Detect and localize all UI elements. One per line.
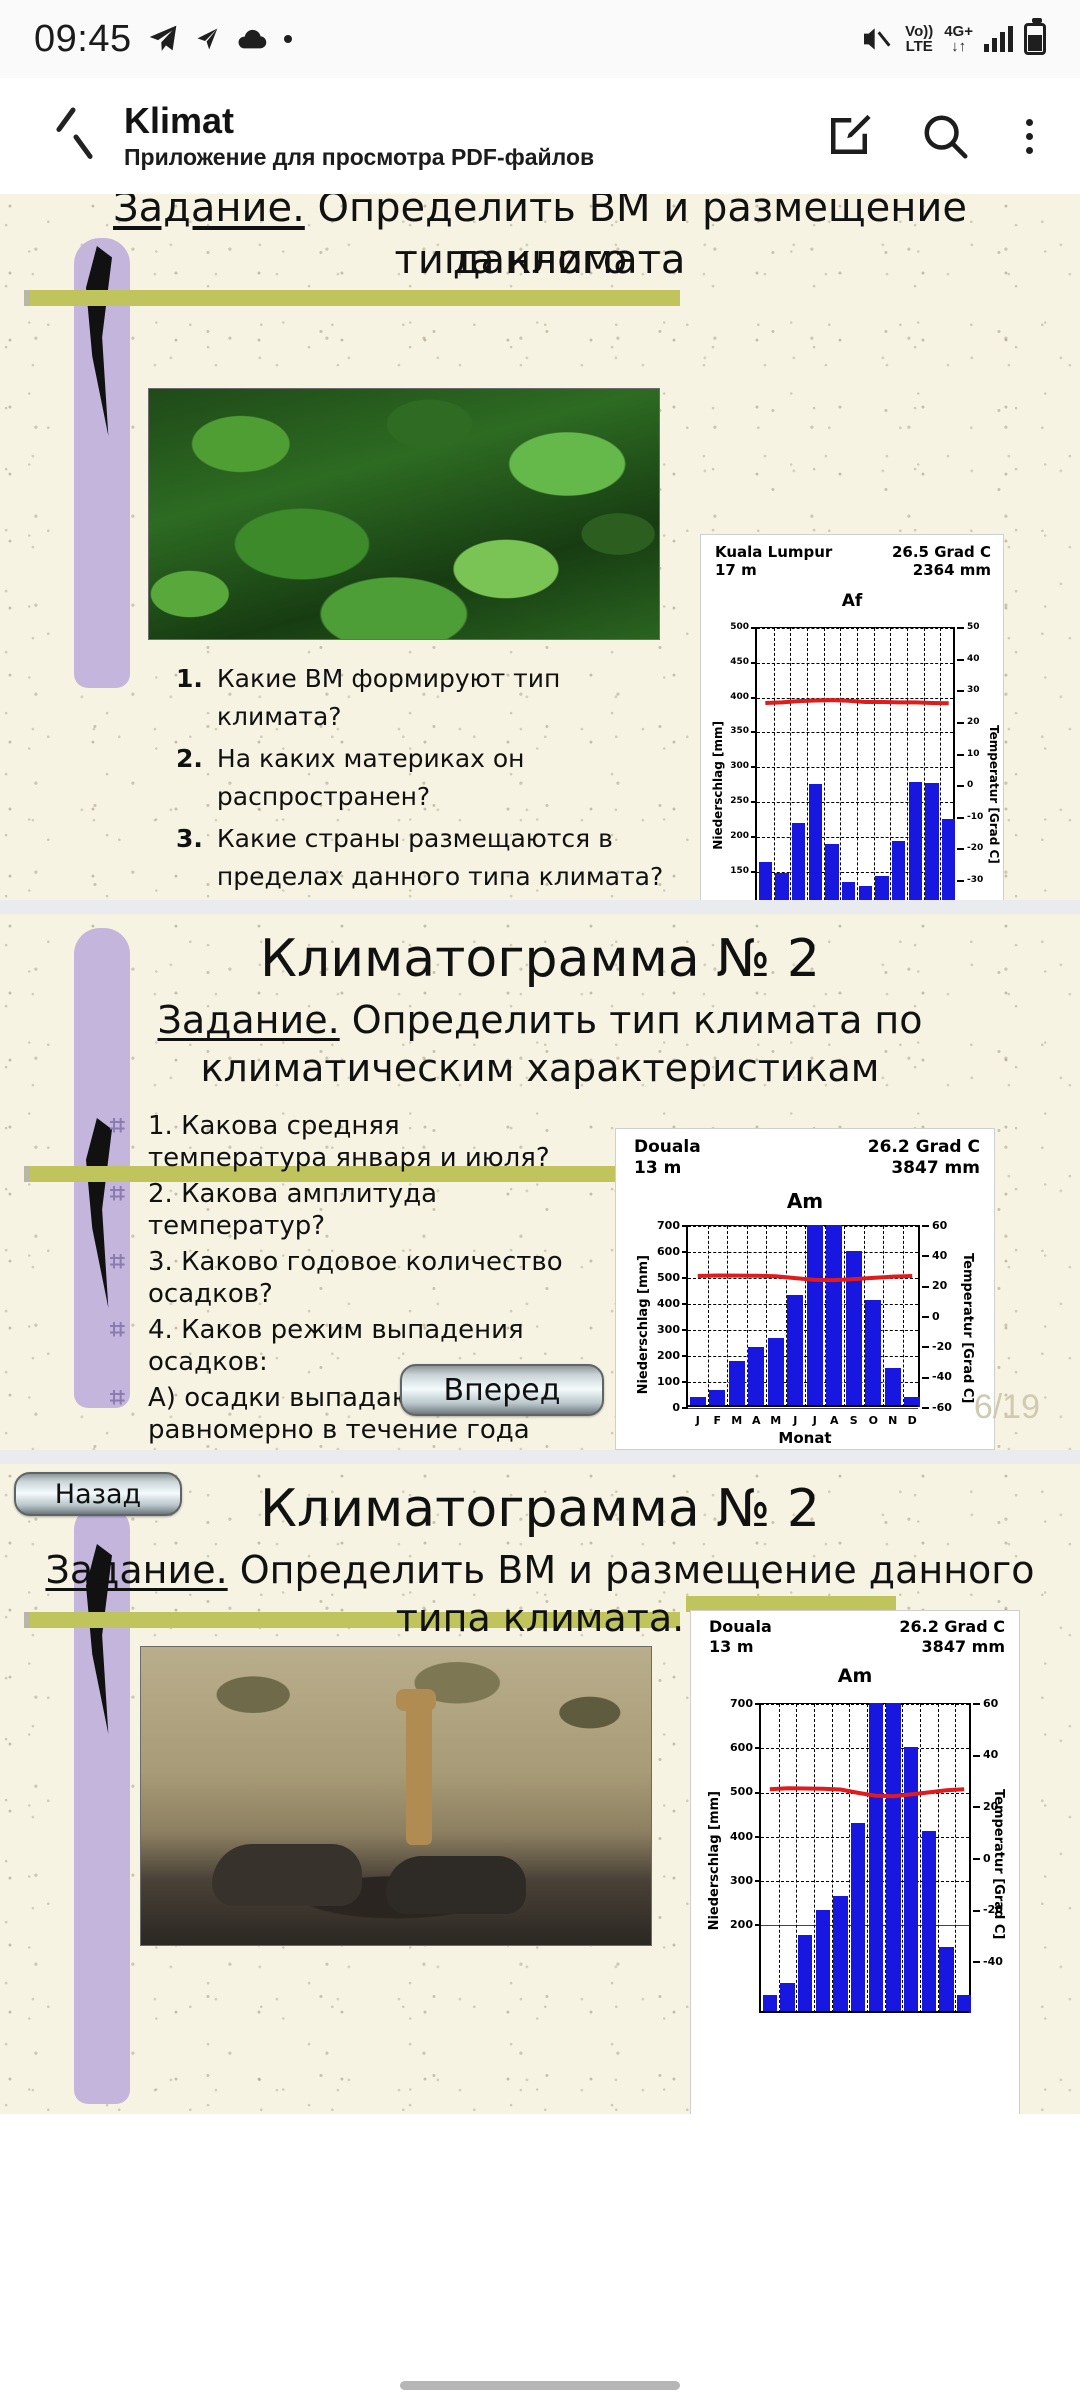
x-tick-label: M bbox=[727, 1414, 747, 1427]
bullet-icon: ⌗ bbox=[110, 1382, 134, 1414]
station-name: Douala bbox=[634, 1137, 701, 1158]
y-axis-label: Niederschlag [mm] bbox=[636, 1255, 651, 1394]
signal-bars-icon bbox=[984, 26, 1013, 52]
y-tick-label: 500 bbox=[650, 1271, 680, 1284]
status-bar: 09:45 Vo)) LTE 4G+ ↓↑ bbox=[0, 0, 1080, 78]
y-tick-label: 300 bbox=[721, 761, 749, 771]
status-right: Vo)) LTE 4G+ ↓↑ bbox=[858, 23, 1046, 55]
y2-tick bbox=[922, 1407, 929, 1409]
question-text: Какие ВМ формируют тип климата? bbox=[217, 660, 666, 736]
y2-tick-label: 50 bbox=[967, 622, 980, 632]
status-time: 09:45 bbox=[34, 18, 132, 61]
cloud-icon bbox=[236, 26, 268, 52]
y2-tick-label: 10 bbox=[967, 749, 980, 759]
x-tick-label: J bbox=[805, 1414, 825, 1427]
x-tick-label: A bbox=[747, 1414, 767, 1427]
volte-label: Vo)) bbox=[905, 24, 933, 39]
dot-icon bbox=[282, 33, 294, 45]
bullet-text: 2. Какова амплитуда температур? bbox=[148, 1178, 570, 1242]
question-number: 1. bbox=[176, 660, 203, 698]
slide-task-line2: типа климата bbox=[20, 234, 1060, 286]
more-options-icon[interactable] bbox=[1014, 109, 1044, 163]
x-axis-label: Monat bbox=[616, 1429, 994, 1447]
back-icon[interactable] bbox=[56, 106, 100, 166]
y-tick-label: 500 bbox=[723, 1785, 753, 1798]
y2-tick-label: 0 bbox=[983, 1852, 991, 1865]
y-tick-label: 400 bbox=[650, 1297, 680, 1310]
rhino-shape bbox=[212, 1844, 362, 1906]
bullet-icon: ⌗ bbox=[110, 1110, 134, 1142]
y2-tick bbox=[973, 1858, 980, 1860]
annual-precipitation: 2364 mm bbox=[892, 561, 991, 579]
list-item: 3. Какие страны размещаются в пределах д… bbox=[176, 820, 666, 896]
x-tick-label: N bbox=[883, 1414, 903, 1427]
y2-tick-label: -40 bbox=[983, 1955, 1003, 1968]
question-text: На каких материках он распространен? bbox=[217, 740, 666, 816]
y2-tick-label: 20 bbox=[967, 717, 980, 727]
y2-tick bbox=[957, 722, 964, 724]
station-elevation: 13 m bbox=[634, 1158, 701, 1179]
climate-diagram-2[interactable]: Douala 13 m 26.2 Grad C 3847 mm Am 01002… bbox=[615, 1128, 995, 1450]
climate-plot-2: 0100200300400500600700-60-40-200204060JF… bbox=[686, 1225, 920, 1407]
data-arrows: ↓↑ bbox=[944, 39, 973, 54]
page-separator bbox=[0, 900, 1080, 914]
x-tick-label: A bbox=[825, 1414, 845, 1427]
rhino-shape bbox=[386, 1856, 526, 1914]
slide-task-line1: Определить ВМ и размещение данного bbox=[240, 1548, 1035, 1592]
y-tick-label: 200 bbox=[650, 1349, 680, 1362]
x-tick-label: F bbox=[708, 1414, 728, 1427]
x-tick-label: J bbox=[688, 1414, 708, 1427]
question-list: 1. Какие ВМ формируют тип климата? 2. На… bbox=[176, 660, 666, 900]
slide-title: Климатограмма № 2 bbox=[20, 926, 1060, 992]
climate-code: Am bbox=[691, 1665, 1019, 1687]
y2-tick bbox=[922, 1316, 929, 1318]
y-tick-label: 400 bbox=[721, 692, 749, 702]
y2-axis-label: Temperatur [Grad C] bbox=[987, 725, 1001, 864]
y-tick-label: 300 bbox=[650, 1323, 680, 1336]
y-gridline bbox=[688, 1408, 918, 1409]
nav-handle[interactable] bbox=[400, 2381, 680, 2390]
y-tick-label: 300 bbox=[723, 1874, 753, 1887]
y2-tick bbox=[973, 1961, 980, 1963]
page-subtitle: Приложение для просмотра PDF-файлов bbox=[124, 142, 594, 172]
x-tick-label: M bbox=[766, 1414, 786, 1427]
climate-header: Douala 13 m 26.2 Grad C 3847 mm bbox=[709, 1617, 1005, 1656]
bullet-icon: ⌗ bbox=[110, 1314, 134, 1346]
y2-tick-label: 0 bbox=[967, 780, 973, 790]
y2-tick bbox=[922, 1286, 929, 1288]
y2-tick bbox=[973, 1806, 980, 1808]
climate-plot-1: 050100150200250300350400450500-60-50-40-… bbox=[755, 627, 955, 900]
y-tick-label: 700 bbox=[723, 1697, 753, 1710]
y-tick-label: 250 bbox=[721, 796, 749, 806]
question-number: 3. bbox=[176, 820, 203, 858]
list-item: ⌗3. Каково годовое количество осадков? bbox=[110, 1246, 570, 1310]
climate-plot-3: 200300400500600700-40-200204060 bbox=[759, 1703, 971, 2013]
slide-title: Климатограмма № 2 bbox=[20, 1476, 1060, 1542]
x-tick-label: D bbox=[903, 1414, 923, 1427]
y-tick-label: 450 bbox=[721, 657, 749, 667]
y2-tick-label: -20 bbox=[932, 1340, 952, 1353]
app-bar: Klimat Приложение для просмотра PDF-файл… bbox=[0, 78, 1080, 194]
y-tick-label: 400 bbox=[723, 1830, 753, 1843]
page-title: Klimat bbox=[124, 100, 594, 142]
slide-task-prefix: Задание. bbox=[45, 1548, 227, 1592]
x-tick-label: S bbox=[844, 1414, 864, 1427]
x-tick-label: J bbox=[786, 1414, 806, 1427]
edit-icon[interactable] bbox=[822, 109, 876, 163]
slide-task-line1-wrap: Задание. Определить ВМ и размещение данн… bbox=[20, 1546, 1060, 1594]
y2-tick-label: -20 bbox=[967, 843, 983, 853]
annual-precipitation: 3847 mm bbox=[899, 1637, 1005, 1657]
y-tick-label: 700 bbox=[650, 1219, 680, 1232]
volte-indicator: Vo)) LTE bbox=[905, 24, 933, 54]
y2-tick-label: -10 bbox=[967, 812, 983, 822]
climate-code: Af bbox=[701, 591, 1003, 611]
y2-tick bbox=[957, 627, 964, 629]
list-item: ⌗1. Какова средняя температура января и … bbox=[110, 1110, 570, 1174]
list-item: 2. На каких материках он распространен? bbox=[176, 740, 666, 816]
list-item: 1. Какие ВМ формируют тип климата? bbox=[176, 660, 666, 736]
rainforest-image bbox=[149, 389, 659, 639]
mute-icon bbox=[858, 23, 894, 55]
bullet-text: 3. Каково годовое количество осадков? bbox=[148, 1246, 570, 1310]
pdf-page-5[interactable]: Задание. Определить ВМ и размещение данн… bbox=[0, 194, 1080, 900]
giraffe-shape bbox=[406, 1695, 432, 1845]
station-name: Kuala Lumpur bbox=[715, 543, 832, 561]
y2-tick bbox=[922, 1346, 929, 1348]
question-text: Какие страны размещаются в пределах данн… bbox=[217, 820, 666, 896]
y2-tick-label: 40 bbox=[983, 1748, 998, 1761]
y2-tick-label: -40 bbox=[932, 1370, 952, 1383]
y2-tick-label: 40 bbox=[932, 1249, 947, 1262]
station-elevation: 17 m bbox=[715, 561, 832, 579]
y2-tick bbox=[922, 1377, 929, 1379]
climate-header: Douala 13 m 26.2 Grad C 3847 mm bbox=[634, 1137, 980, 1178]
y2-tick bbox=[922, 1255, 929, 1257]
network-label: 4G+ bbox=[944, 24, 973, 39]
y2-tick bbox=[957, 754, 964, 756]
y2-tick-label: 60 bbox=[983, 1697, 998, 1710]
page-separator bbox=[0, 1450, 1080, 1464]
y-tick-label: 350 bbox=[721, 726, 749, 736]
bullet-text: 1. Какова средняя температура января и и… bbox=[148, 1110, 570, 1174]
y-tick-label: 150 bbox=[721, 866, 749, 876]
y2-tick bbox=[973, 1755, 980, 1757]
climate-header: Kuala Lumpur 17 m 26.5 Grad C 2364 mm bbox=[715, 543, 991, 580]
lte-label: LTE bbox=[905, 39, 933, 54]
pdf-page-6[interactable]: Климатограмма № 2 Задание. Определить ти… bbox=[0, 914, 1080, 1450]
temperature-line bbox=[757, 628, 957, 900]
slide-task-line2: климатическим характеристикам bbox=[20, 1044, 1060, 1092]
decor-olive-band bbox=[30, 290, 680, 306]
temperature-line bbox=[761, 1704, 973, 2014]
pdf-page-7[interactable]: Назад Климатограмма № 2 Задание. Определ… bbox=[0, 1464, 1080, 2114]
y-tick-label: 0 bbox=[650, 1401, 680, 1414]
station-name: Douala bbox=[709, 1617, 772, 1637]
y-tick-label: 200 bbox=[723, 1918, 753, 1931]
pdf-page-list[interactable]: Задание. Определить ВМ и размещение данн… bbox=[0, 194, 1080, 2114]
annual-precipitation: 3847 mm bbox=[868, 1158, 980, 1179]
page-indicator: 6/19 bbox=[974, 1388, 1040, 1427]
y-tick-label: 600 bbox=[723, 1741, 753, 1754]
search-icon[interactable] bbox=[918, 109, 972, 163]
savanna-image bbox=[141, 1647, 651, 1945]
slide-task-line1: Определить тип климата по bbox=[352, 998, 923, 1042]
y2-tick-label: 40 bbox=[967, 654, 980, 664]
y-tick-label: 600 bbox=[650, 1245, 680, 1258]
y2-tick-label: -60 bbox=[932, 1401, 952, 1414]
y2-tick bbox=[957, 785, 964, 787]
status-left: 09:45 bbox=[34, 18, 294, 61]
y2-axis-label: Temperatur [Grad C] bbox=[960, 1253, 975, 1403]
y2-tick-label: 0 bbox=[932, 1310, 940, 1323]
station-elevation: 13 m bbox=[709, 1637, 772, 1657]
app-bar-actions bbox=[822, 109, 1050, 163]
mean-temperature: 26.5 Grad C bbox=[892, 543, 991, 561]
slide-task-line1-wrap: Задание. Определить тип климата по bbox=[20, 996, 1060, 1044]
bullet-icon: ⌗ bbox=[110, 1246, 134, 1278]
y2-tick bbox=[957, 817, 964, 819]
slide-task-prefix: Задание. bbox=[113, 194, 305, 231]
mean-temperature: 26.2 Grad C bbox=[899, 1617, 1005, 1637]
y2-tick bbox=[973, 1910, 980, 1912]
savanna-photo[interactable] bbox=[140, 1646, 652, 1946]
list-item: ⌗2. Какова амплитуда температур? bbox=[110, 1178, 570, 1242]
temperature-line bbox=[688, 1226, 922, 1408]
x-tick-label: O bbox=[864, 1414, 884, 1427]
rainforest-photo[interactable] bbox=[148, 388, 660, 640]
y2-tick-label: 60 bbox=[932, 1219, 947, 1232]
y2-tick bbox=[973, 1703, 980, 1705]
y-tick-label: 100 bbox=[650, 1375, 680, 1388]
y-axis-label: Niederschlag [mm] bbox=[711, 721, 725, 850]
y2-tick bbox=[957, 880, 964, 882]
slide-task-prefix: Задание. bbox=[157, 998, 339, 1042]
y2-tick bbox=[922, 1225, 929, 1227]
question-number: 2. bbox=[176, 740, 203, 778]
y-axis-label: Niederschlag [mm] bbox=[707, 1791, 722, 1930]
climate-code: Am bbox=[616, 1189, 994, 1213]
y2-tick bbox=[957, 690, 964, 692]
battery-icon bbox=[1024, 23, 1046, 55]
y-tick-label: 200 bbox=[721, 831, 749, 841]
app-titles: Klimat Приложение для просмотра PDF-файл… bbox=[124, 100, 594, 172]
mean-temperature: 26.2 Grad C bbox=[868, 1137, 980, 1158]
bullet-icon: ⌗ bbox=[110, 1178, 134, 1210]
y2-tick-label: -30 bbox=[967, 875, 983, 885]
send-icon bbox=[194, 24, 222, 54]
y2-tick bbox=[957, 848, 964, 850]
y2-tick-label: 30 bbox=[967, 685, 980, 695]
y-tick-label: 500 bbox=[721, 622, 749, 632]
y2-tick-label: 20 bbox=[932, 1279, 947, 1292]
telegram-icon bbox=[146, 23, 180, 55]
forward-button[interactable]: Вперед bbox=[400, 1364, 604, 1416]
climate-diagram-3[interactable]: Douala 13 m 26.2 Grad C 3847 mm Am 20030… bbox=[690, 1610, 1020, 2114]
y2-axis-label: Temperatur [Grad C] bbox=[991, 1789, 1006, 1939]
network-indicator: 4G+ ↓↑ bbox=[944, 24, 973, 54]
y2-tick bbox=[957, 659, 964, 661]
climate-diagram-1[interactable]: Kuala Lumpur 17 m 26.5 Grad C 2364 mm Af… bbox=[700, 534, 1004, 900]
